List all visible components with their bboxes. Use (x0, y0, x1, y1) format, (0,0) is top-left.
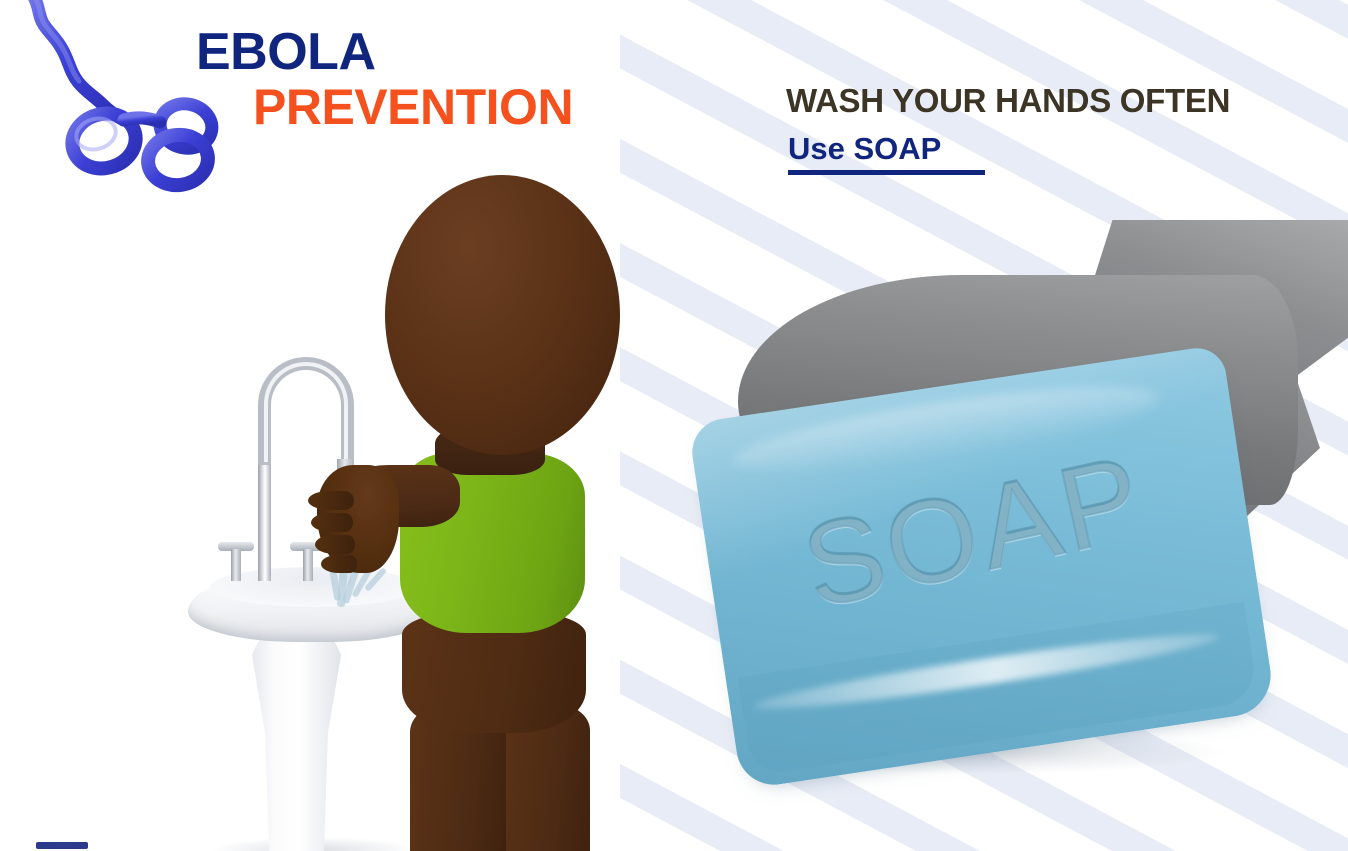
finger (308, 491, 354, 510)
soap-bar: SOAP (688, 344, 1277, 790)
page-title-ebola: EBOLA (196, 26, 376, 78)
sink-bowl (210, 567, 418, 607)
message-use-soap: Use SOAP (788, 133, 941, 164)
head (385, 175, 620, 455)
faucet-handle-hot-stem (303, 549, 313, 581)
page-title-prevention: PREVENTION (253, 82, 573, 132)
finger (315, 535, 355, 554)
faucet-column (258, 459, 271, 581)
message-wash-hands: WASH YOUR HANDS OFTEN (786, 84, 1230, 117)
faucet-gooseneck-highlight (264, 362, 348, 462)
sink-pedestal (244, 620, 349, 851)
footer-logo-bar (36, 842, 88, 849)
poster-slide: EBOLA PREVENTION WASH YOUR HANDS OFTEN U… (0, 0, 1348, 851)
footer-logo-text (98, 840, 101, 850)
message-use-soap-underline (788, 170, 985, 175)
finger (321, 555, 357, 573)
finger (311, 513, 353, 532)
faucet-handle-cold-stem (231, 549, 241, 581)
footer-logo (36, 840, 186, 851)
hand-holding-soap-illustration: SOAP (690, 220, 1348, 790)
person-washing-hands-illustration (180, 165, 630, 851)
